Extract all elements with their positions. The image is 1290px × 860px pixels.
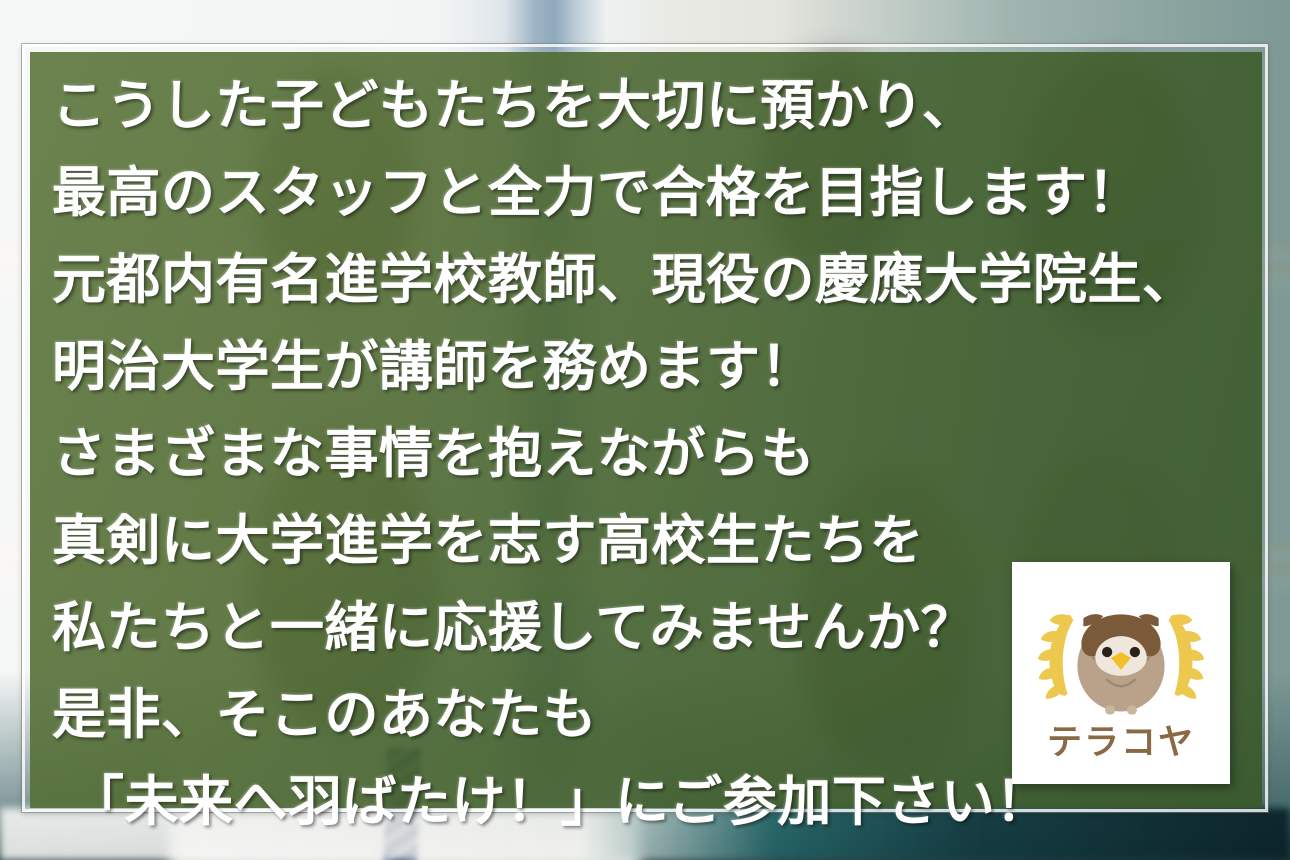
terakoya-logo-card: テラコヤ bbox=[1012, 562, 1230, 784]
owl-icon bbox=[1012, 588, 1230, 716]
message-line-3: 元都内有名進学校教師、現役の慶應大学院生、 bbox=[52, 236, 1252, 323]
terakoya-wordmark: テラコヤ bbox=[1012, 714, 1230, 765]
message-line-1: こうした子どもたちを大切に預かり、 bbox=[52, 62, 1252, 149]
message-line-2: 最高のスタッフと全力で合格を目指します！ bbox=[52, 149, 1252, 236]
poster-canvas: こうした子どもたちを大切に預かり、 最高のスタッフと全力で合格を目指します！ 元… bbox=[0, 0, 1290, 860]
message-line-5: さまざまな事情を抱えながらも bbox=[52, 410, 1252, 497]
message-line-4: 明治大学生が講師を務めます！ bbox=[52, 323, 1252, 410]
laurel-wreath-icon bbox=[1038, 614, 1074, 698]
